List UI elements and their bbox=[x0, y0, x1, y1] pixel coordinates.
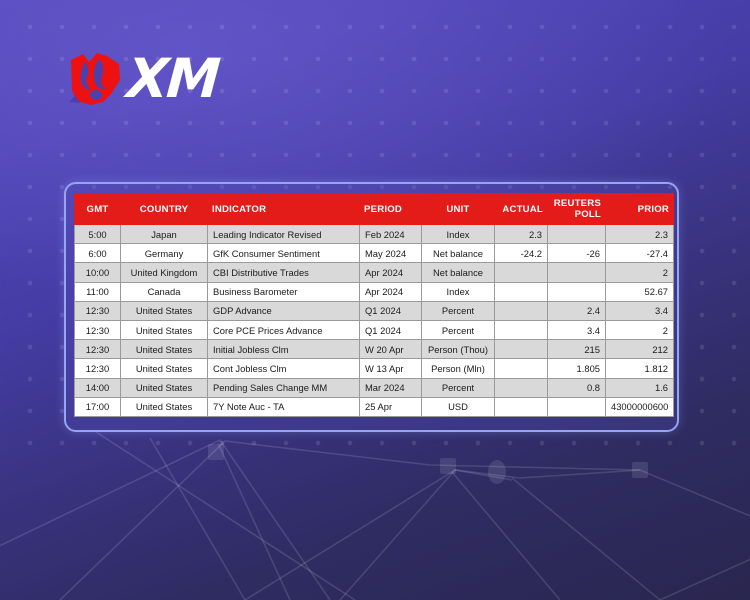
cell-poll: 0.8 bbox=[548, 378, 606, 397]
cell-country: United States bbox=[121, 359, 208, 378]
table-row[interactable]: 6:00GermanyGfK Consumer SentimentMay 202… bbox=[75, 244, 674, 263]
column-header-gmt[interactable]: GMT bbox=[75, 194, 121, 225]
cell-indicator: GfK Consumer Sentiment bbox=[208, 244, 360, 263]
cell-gmt: 12:30 bbox=[75, 340, 121, 359]
cell-period: Feb 2024 bbox=[360, 225, 422, 244]
cell-actual bbox=[495, 282, 548, 301]
cell-indicator: Pending Sales Change MM bbox=[208, 378, 360, 397]
cell-unit: USD bbox=[422, 397, 495, 416]
cell-period: Q1 2024 bbox=[360, 320, 422, 339]
cell-actual bbox=[495, 359, 548, 378]
cell-gmt: 10:00 bbox=[75, 263, 121, 282]
cell-period: Mar 2024 bbox=[360, 378, 422, 397]
cell-poll: 1.805 bbox=[548, 359, 606, 378]
cell-gmt: 6:00 bbox=[75, 244, 121, 263]
cell-gmt: 17:00 bbox=[75, 397, 121, 416]
cell-indicator: Business Barometer bbox=[208, 282, 360, 301]
column-header-actual[interactable]: ACTUAL bbox=[495, 194, 548, 225]
column-header-unit[interactable]: UNIT bbox=[422, 194, 495, 225]
cell-period: Apr 2024 bbox=[360, 263, 422, 282]
cell-poll bbox=[548, 225, 606, 244]
cell-gmt: 12:30 bbox=[75, 359, 121, 378]
cell-poll: 3.4 bbox=[548, 320, 606, 339]
cell-poll bbox=[548, 263, 606, 282]
cell-country: United States bbox=[121, 320, 208, 339]
cell-prior: 2.3 bbox=[606, 225, 674, 244]
cell-period: 25 Apr bbox=[360, 397, 422, 416]
cell-unit: Person (Mln) bbox=[422, 359, 495, 378]
column-header-prior[interactable]: PRIOR bbox=[606, 194, 674, 225]
cell-actual bbox=[495, 320, 548, 339]
table-row[interactable]: 12:30United StatesGDP AdvanceQ1 2024Perc… bbox=[75, 301, 674, 320]
cell-indicator: GDP Advance bbox=[208, 301, 360, 320]
cell-prior: 1.812 bbox=[606, 359, 674, 378]
cell-actual bbox=[495, 263, 548, 282]
cell-unit: Index bbox=[422, 282, 495, 301]
cell-period: Apr 2024 bbox=[360, 282, 422, 301]
table-header: GMT COUNTRY INDICATOR PERIOD UNIT ACTUAL… bbox=[75, 194, 674, 225]
table-row[interactable]: 11:00CanadaBusiness BarometerApr 2024Ind… bbox=[75, 282, 674, 301]
table-body: 5:00JapanLeading Indicator RevisedFeb 20… bbox=[75, 225, 674, 417]
xm-logo: XM bbox=[63, 48, 248, 110]
cell-indicator: Cont Jobless Clm bbox=[208, 359, 360, 378]
cell-poll: -26 bbox=[548, 244, 606, 263]
cell-actual bbox=[495, 340, 548, 359]
table-row[interactable]: 12:30United StatesCont Jobless ClmW 13 A… bbox=[75, 359, 674, 378]
cell-country: United States bbox=[121, 340, 208, 359]
cell-country: United Kingdom bbox=[121, 263, 208, 282]
cell-unit: Index bbox=[422, 225, 495, 244]
table-row[interactable]: 12:30United StatesCore PCE Prices Advanc… bbox=[75, 320, 674, 339]
table-row[interactable]: 12:30United StatesInitial Jobless ClmW 2… bbox=[75, 340, 674, 359]
bull-icon bbox=[63, 50, 125, 108]
cell-prior: 52.67 bbox=[606, 282, 674, 301]
cell-prior: 2 bbox=[606, 263, 674, 282]
cell-actual bbox=[495, 397, 548, 416]
cell-poll bbox=[548, 282, 606, 301]
cell-country: United States bbox=[121, 397, 208, 416]
cell-gmt: 11:00 bbox=[75, 282, 121, 301]
cell-period: May 2024 bbox=[360, 244, 422, 263]
cell-prior: 212 bbox=[606, 340, 674, 359]
cell-country: Japan bbox=[121, 225, 208, 244]
cell-gmt: 5:00 bbox=[75, 225, 121, 244]
cell-actual: 2.3 bbox=[495, 225, 548, 244]
cell-indicator: 7Y Note Auc - TA bbox=[208, 397, 360, 416]
cell-prior: 2 bbox=[606, 320, 674, 339]
cell-poll: 2.4 bbox=[548, 301, 606, 320]
cell-poll: 215 bbox=[548, 340, 606, 359]
xm-wordmark: XM bbox=[125, 52, 220, 106]
column-header-reuters-poll[interactable]: REUTERS POLL bbox=[548, 194, 606, 225]
cell-unit: Percent bbox=[422, 301, 495, 320]
cell-country: Germany bbox=[121, 244, 208, 263]
cell-unit: Net balance bbox=[422, 244, 495, 263]
cell-prior: 3.4 bbox=[606, 301, 674, 320]
cell-prior: 43000000600 bbox=[606, 397, 674, 416]
cell-prior: -27.4 bbox=[606, 244, 674, 263]
cell-prior: 1.6 bbox=[606, 378, 674, 397]
cell-gmt: 12:30 bbox=[75, 301, 121, 320]
cell-poll bbox=[548, 397, 606, 416]
column-header-period[interactable]: PERIOD bbox=[360, 194, 422, 225]
cell-unit: Person (Thou) bbox=[422, 340, 495, 359]
column-header-indicator[interactable]: INDICATOR bbox=[208, 194, 360, 225]
cell-actual bbox=[495, 301, 548, 320]
cell-unit: Net balance bbox=[422, 263, 495, 282]
table-row[interactable]: 5:00JapanLeading Indicator RevisedFeb 20… bbox=[75, 225, 674, 244]
cell-period: W 13 Apr bbox=[360, 359, 422, 378]
cell-country: United States bbox=[121, 301, 208, 320]
cell-country: Canada bbox=[121, 282, 208, 301]
cell-unit: Percent bbox=[422, 320, 495, 339]
cell-period: Q1 2024 bbox=[360, 301, 422, 320]
header-row: GMT COUNTRY INDICATOR PERIOD UNIT ACTUAL… bbox=[75, 194, 674, 225]
economic-calendar-table: GMT COUNTRY INDICATOR PERIOD UNIT ACTUAL… bbox=[74, 193, 674, 417]
cell-gmt: 14:00 bbox=[75, 378, 121, 397]
economic-calendar-panel: GMT COUNTRY INDICATOR PERIOD UNIT ACTUAL… bbox=[64, 182, 679, 432]
cell-country: United States bbox=[121, 378, 208, 397]
cell-indicator: Leading Indicator Revised bbox=[208, 225, 360, 244]
cell-indicator: CBI Distributive Trades bbox=[208, 263, 360, 282]
cell-indicator: Initial Jobless Clm bbox=[208, 340, 360, 359]
table-row[interactable]: 17:00United States7Y Note Auc - TA25 Apr… bbox=[75, 397, 674, 416]
cell-unit: Percent bbox=[422, 378, 495, 397]
table-row[interactable]: 10:00United KingdomCBI Distributive Trad… bbox=[75, 263, 674, 282]
cell-actual: -24.2 bbox=[495, 244, 548, 263]
cell-indicator: Core PCE Prices Advance bbox=[208, 320, 360, 339]
cell-gmt: 12:30 bbox=[75, 320, 121, 339]
cell-actual bbox=[495, 378, 548, 397]
cell-period: W 20 Apr bbox=[360, 340, 422, 359]
column-header-country[interactable]: COUNTRY bbox=[121, 194, 208, 225]
table-row[interactable]: 14:00United StatesPending Sales Change M… bbox=[75, 378, 674, 397]
